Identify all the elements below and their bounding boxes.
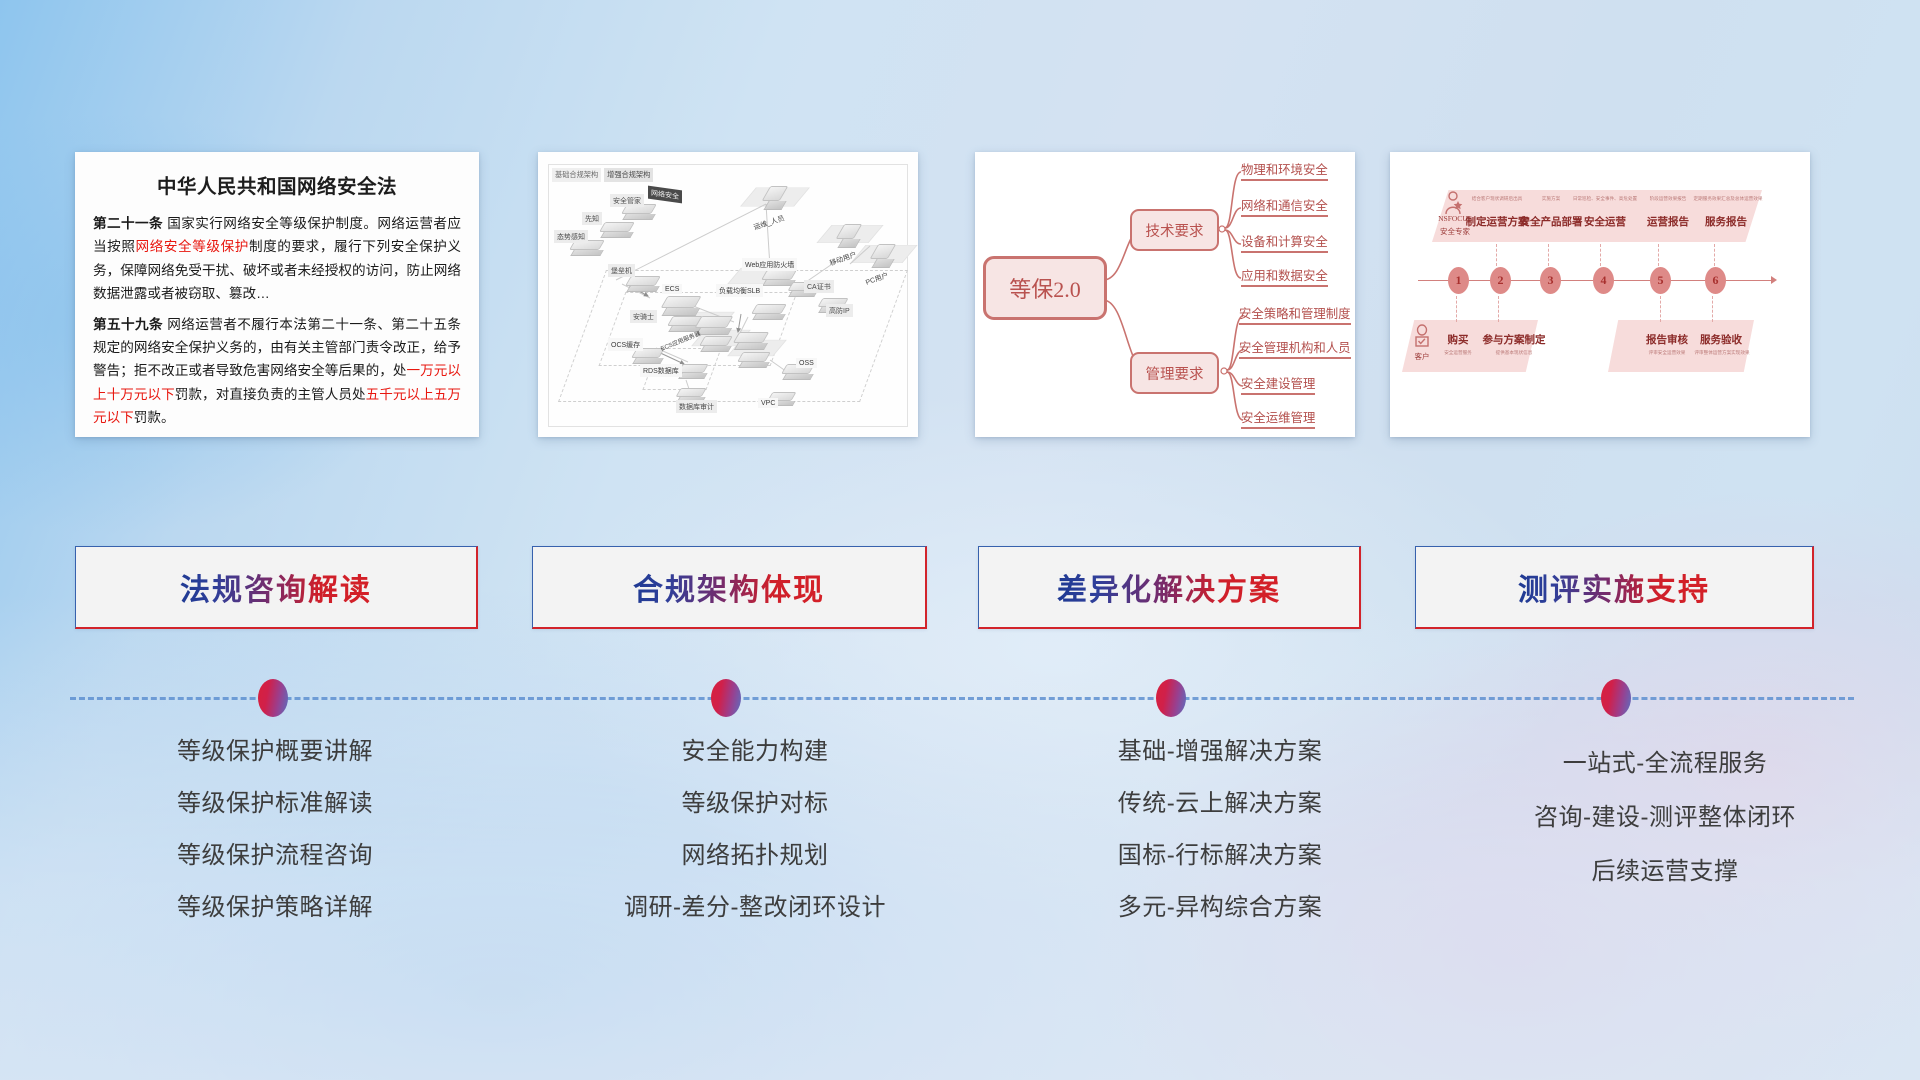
mindmap-leaf-device: 设备和计算安全: [1241, 232, 1328, 253]
law-paragraph-59: 第五十九条 网络运营者不履行本法第二十一条、第二十五条规定的网络安全保护义务的，…: [93, 313, 461, 430]
arch-label-anti-ddos-ip: 高防IP: [826, 304, 853, 317]
law-body-text: 罚款，对直接负责的主管人员处: [175, 387, 366, 402]
process-step-1: 1: [1448, 267, 1469, 294]
arch-tabs: 基础合规架构 增强合规架构: [552, 168, 653, 182]
law-article-number: 第二十一条: [93, 216, 163, 231]
title-text-2: 合规架构体现: [633, 565, 825, 609]
arch-label-situational-awareness: 态势感知: [554, 230, 588, 243]
process-bot-big-3: 报告审核: [1636, 332, 1698, 347]
list-item: 基础-增强解决方案: [1000, 740, 1440, 764]
mindmap-leaf-org: 安全管理机构和人员: [1239, 338, 1351, 359]
process-top-big-3: 安全运营: [1570, 214, 1640, 229]
timeline-track: [70, 697, 1854, 700]
arch-label-anqishi: 安骑士: [630, 310, 657, 323]
list-compliance-architecture: 安全能力构建 等级保护对标 网络拓扑规划 调研-差分-整改闭环设计: [520, 740, 990, 948]
arch-label-ca-certificate: CA证书: [804, 280, 834, 293]
arch-label-oss: OSS: [796, 358, 817, 368]
mindmap-leaf-network: 网络和通信安全: [1241, 196, 1328, 217]
list-item: 网络拓扑规划: [520, 844, 990, 868]
customer-icon: [1412, 324, 1432, 350]
process-bot-big-4: 服务验收: [1690, 332, 1752, 347]
expert-icon: [1442, 190, 1464, 216]
title-box-compliance-architecture[interactable]: 合规架构体现: [532, 546, 927, 629]
list-item: 咨询-建设-测评整体闭环: [1450, 806, 1880, 830]
list-item: 等级保护标准解读: [60, 792, 490, 816]
arch-label-vpc: VPC: [758, 398, 778, 408]
process-bot-big-1: 购买: [1434, 332, 1482, 347]
title-box-assessment-support[interactable]: 测评实施支持: [1415, 546, 1814, 629]
arch-label-ocs-cache: OCS缓存: [608, 338, 643, 351]
mindmap-branch-technical: 技术要求: [1130, 209, 1219, 251]
arch-label-db-audit: 数据库审计: [676, 400, 717, 413]
law-highlight-text: 网络安全等级保护: [136, 239, 249, 254]
arch-label-security-butler: 安全管家: [610, 194, 644, 207]
list-assessment-support: 一站式-全流程服务 咨询-建设-测评整体闭环 后续运营支撑: [1450, 752, 1880, 912]
arch-label-xianzhi: 先知: [582, 212, 602, 225]
timeline-dot-3: [1156, 679, 1186, 717]
card-cybersecurity-law: 中华人民共和国网络安全法 第二十一条 国家实行网络安全等级保护制度。网络运营者应…: [75, 152, 479, 437]
process-top-small-5: 定期服务效果汇总及总体运营效果: [1678, 196, 1778, 202]
list-item: 国标-行标解决方案: [1000, 844, 1440, 868]
title-text-1: 法规咨询解读: [180, 565, 372, 609]
arch-label-rds-database: RDS数据库: [640, 364, 682, 377]
list-item: 后续运营支撑: [1450, 860, 1880, 884]
list-item: 多元-异构综合方案: [1000, 896, 1440, 920]
title-box-differentiated-solution[interactable]: 差异化解决方案: [978, 546, 1361, 629]
process-step-4: 4: [1593, 267, 1614, 294]
list-item: 等级保护策略详解: [60, 896, 490, 920]
list-item: 安全能力构建: [520, 740, 990, 764]
list-item: 等级保护对标: [520, 792, 990, 816]
arch-label-slb: 负载均衡SLB: [716, 284, 763, 297]
timeline-dot-2: [711, 679, 741, 717]
mindmap-branch-management: 管理要求: [1130, 352, 1219, 394]
list-differentiated-solution: 基础-增强解决方案 传统-云上解决方案 国标-行标解决方案 多元-异构综合方案: [1000, 740, 1440, 948]
timeline-dot-1: [258, 679, 288, 717]
process-bot-small-2: 提供基本现状信息: [1480, 350, 1548, 356]
mindmap-leaf-app-data: 应用和数据安全: [1241, 266, 1328, 287]
arch-label-bastion-host: 堡垒机: [608, 264, 635, 277]
list-item: 调研-差分-整改闭环设计: [520, 896, 990, 920]
card-cloud-architecture: 基础合规架构 增强合规架构: [538, 152, 918, 437]
mindmap-leaf-policy: 安全策略和管理制度: [1239, 304, 1351, 325]
list-item: 传统-云上解决方案: [1000, 792, 1440, 816]
process-bot-small-4: 评审整体运营方案实现效果: [1684, 350, 1760, 356]
process-step-5: 5: [1650, 267, 1671, 294]
mindmap-leaf-ops: 安全运维管理: [1241, 408, 1315, 429]
arch-label-waf: Web应用防火墙: [742, 258, 797, 271]
list-regulation-consulting: 等级保护概要讲解 等级保护标准解读 等级保护流程咨询 等级保护策略详解: [60, 740, 490, 948]
arch-tab-basic[interactable]: 基础合规架构: [552, 168, 601, 182]
list-item: 等级保护概要讲解: [60, 740, 490, 764]
law-article-number: 第五十九条: [93, 317, 163, 332]
process-step-3: 3: [1540, 267, 1561, 294]
timeline-dot-4: [1601, 679, 1631, 717]
process-step-6: 6: [1705, 267, 1726, 294]
arch-tab-enhanced[interactable]: 增强合规架构: [604, 168, 653, 182]
card-mindmap-dengbao: 等保2.0 技术要求 管理要求 物理和环境安全 网络和通信安全 设备和计算安全 …: [975, 152, 1355, 437]
title-text-4: 测评实施支持: [1518, 565, 1710, 609]
title-box-regulation-consulting[interactable]: 法规咨询解读: [75, 546, 478, 629]
process-top-big-5: 服务报告: [1690, 214, 1762, 229]
arch-label-ecs: ECS: [662, 284, 682, 294]
mindmap-leaf-build: 安全建设管理: [1241, 374, 1315, 395]
law-title: 中华人民共和国网络安全法: [93, 170, 461, 199]
card-nsfocus-process: NSFOCUS 安全专家 客户 1 2 3 4 5 6: [1390, 152, 1810, 437]
list-item: 等级保护流程咨询: [60, 844, 490, 868]
process-bot-small-1: 安全运营服务: [1432, 350, 1484, 356]
list-item: 一站式-全流程服务: [1450, 752, 1880, 776]
process-step-2: 2: [1490, 267, 1511, 294]
law-body-text: 罚款。: [134, 410, 175, 425]
mindmap-leaf-physical: 物理和环境安全: [1241, 160, 1328, 181]
title-text-3: 差异化解决方案: [1057, 565, 1281, 609]
law-paragraph-21: 第二十一条 国家实行网络安全等级保护制度。网络运营者应当按照网络安全等级保护制度…: [93, 212, 461, 306]
process-bot-big-2: 参与方案制定: [1476, 332, 1552, 347]
mindmap-root: 等保2.0: [983, 256, 1107, 320]
